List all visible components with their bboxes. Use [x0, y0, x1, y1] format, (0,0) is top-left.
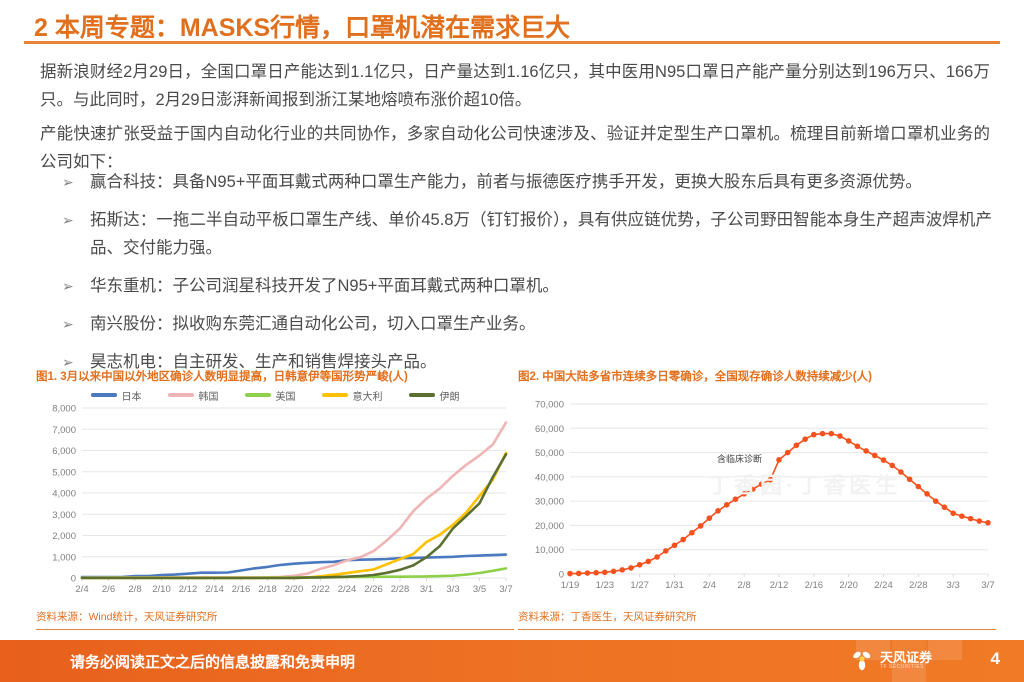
svg-text:8,000: 8,000	[52, 404, 76, 415]
chart-right-watermark: 丁香园·丁香医生	[708, 468, 901, 500]
svg-text:6,000: 6,000	[52, 446, 76, 457]
list-item: ➢ 华东重机：子公司润星科技开发了N95+平面耳戴式两种口罩机。	[62, 272, 992, 300]
svg-text:2/14: 2/14	[205, 584, 224, 595]
svg-text:1/27: 1/27	[630, 580, 649, 591]
svg-text:2/6: 2/6	[102, 584, 115, 595]
chart-panel-left: 图1. 3月以来中国以外地区确诊人数明显提高，日韩意伊等国形势严峻(人) 日本韩…	[36, 368, 514, 636]
bullet-text: 南兴股份：拟收购东莞汇通自动化公司，切入口罩生产业务。	[90, 310, 992, 338]
svg-text:2/8: 2/8	[128, 584, 141, 595]
legend-swatch-icon	[168, 393, 194, 397]
svg-text:3/1: 3/1	[420, 584, 433, 595]
svg-text:2/26: 2/26	[364, 584, 383, 595]
legend-label: 日本	[122, 388, 142, 403]
line-chart-left: 01,0002,0003,0004,0005,0006,0007,0008,00…	[36, 404, 514, 600]
svg-text:2/18: 2/18	[258, 584, 277, 595]
legend-label: 美国	[276, 388, 296, 403]
svg-text:70,000: 70,000	[535, 400, 564, 411]
legend-swatch-icon	[409, 393, 435, 397]
svg-text:5,000: 5,000	[52, 467, 76, 478]
svg-text:2/8: 2/8	[738, 580, 751, 591]
chart-right-caption: 图2. 中国大陆多省市连续多日零确诊，全国现存确诊人数持续减少(人)	[518, 368, 996, 384]
svg-text:2,000: 2,000	[52, 531, 76, 542]
legend-label: 韩国	[199, 388, 219, 403]
svg-text:0: 0	[71, 574, 76, 585]
svg-text:2/16: 2/16	[232, 584, 251, 595]
svg-text:1/31: 1/31	[665, 580, 684, 591]
svg-text:2/4: 2/4	[703, 580, 716, 591]
svg-text:7,000: 7,000	[52, 425, 76, 436]
list-item: ➢ 拓斯达：一拖二半自动平板口罩生产线、单价45.8万（钉钉报价），具有供应链优…	[62, 206, 992, 262]
bullet-arrow-icon: ➢	[62, 168, 90, 196]
chart-right-plot: 010,00020,00030,00040,00050,00060,00070,…	[518, 400, 996, 600]
bullet-arrow-icon: ➢	[62, 272, 90, 300]
body-paragraphs: 据新浪财经2月29日，全国口罩日产能达到1.1亿只，日产量达到1.16亿只，其中…	[40, 58, 990, 182]
slide-header: 2 本周专题：MASKS行情，口罩机潜在需求巨大	[0, 0, 1024, 46]
chart-left-plot: 01,0002,0003,0004,0005,0006,0007,0008,00…	[36, 404, 514, 604]
chart-right-annotation: 含临床诊断	[717, 452, 762, 465]
svg-text:40,000: 40,000	[535, 472, 564, 483]
chart-left-caption: 图1. 3月以来中国以外地区确诊人数明显提高，日韩意伊等国形势严峻(人)	[36, 368, 514, 384]
legend-item-3: 意大利	[322, 388, 383, 403]
legend-item-0: 日本	[91, 388, 142, 403]
chart-left-legend: 日本韩国美国意大利伊朗	[36, 388, 514, 402]
svg-text:30,000: 30,000	[535, 497, 564, 508]
list-item: ➢ 赢合科技：具备N95+平面耳戴式两种口罩生产能力，前者与振德医疗携手开发，更…	[62, 168, 992, 196]
chart-left-source: 资料来源：Wind统计，天风证券研究所	[36, 609, 217, 624]
bullet-arrow-icon: ➢	[62, 310, 90, 338]
slide-footer: 请务必阅读正文之后的信息披露和免责申明 天风证券 TF SECURITIES 4	[0, 640, 1024, 682]
legend-swatch-icon	[322, 393, 348, 397]
svg-text:2/20: 2/20	[839, 580, 858, 591]
chart-left-divider	[36, 629, 514, 631]
bullet-text: 赢合科技：具备N95+平面耳戴式两种口罩生产能力，前者与振德医疗携手开发，更换大…	[90, 168, 992, 196]
svg-text:2/4: 2/4	[75, 584, 88, 595]
legend-swatch-icon	[91, 393, 117, 397]
legend-label: 意大利	[353, 388, 383, 403]
svg-text:2/24: 2/24	[874, 580, 893, 591]
svg-text:3/7: 3/7	[981, 580, 994, 591]
legend-swatch-icon	[245, 393, 271, 397]
svg-text:3,000: 3,000	[52, 510, 76, 521]
bullet-list: ➢ 赢合科技：具备N95+平面耳戴式两种口罩生产能力，前者与振德医疗携手开发，更…	[62, 168, 992, 386]
bullet-arrow-icon: ➢	[62, 206, 90, 234]
svg-text:2/22: 2/22	[311, 584, 330, 595]
svg-text:2/20: 2/20	[285, 584, 304, 595]
chart-right-source: 资料来源：丁香医生，天风证券研究所	[518, 609, 697, 624]
svg-text:1,000: 1,000	[52, 552, 76, 563]
svg-text:3/3: 3/3	[947, 580, 960, 591]
svg-text:3/5: 3/5	[473, 584, 486, 595]
svg-text:10,000: 10,000	[535, 545, 564, 556]
page-title: 2 本周专题：MASKS行情，口罩机潜在需求巨大	[34, 8, 570, 44]
bullet-text: 拓斯达：一拖二半自动平板口罩生产线、单价45.8万（钉钉报价），具有供应链优势，…	[90, 206, 992, 262]
legend-item-4: 伊朗	[409, 388, 460, 403]
chart-right-divider	[518, 629, 996, 631]
svg-text:3/7: 3/7	[499, 584, 512, 595]
legend-item-2: 美国	[245, 388, 296, 403]
chart-panel-right: 图2. 中国大陆多省市连续多日零确诊，全国现存确诊人数持续减少(人) 010,0…	[518, 368, 996, 636]
tianfeng-logo-icon	[849, 648, 875, 674]
svg-text:1/19: 1/19	[561, 580, 580, 591]
svg-text:2/10: 2/10	[152, 584, 171, 595]
svg-text:2/24: 2/24	[338, 584, 357, 595]
svg-text:50,000: 50,000	[535, 448, 564, 459]
svg-text:0: 0	[559, 570, 564, 581]
paragraph-1: 据新浪财经2月29日，全国口罩日产能达到1.1亿只，日产量达到1.16亿只，其中…	[40, 58, 990, 114]
svg-text:2/12: 2/12	[179, 584, 198, 595]
bullet-text: 华东重机：子公司润星科技开发了N95+平面耳戴式两种口罩机。	[90, 272, 992, 300]
svg-text:2/28: 2/28	[391, 584, 410, 595]
brand-name: 天风证券	[880, 651, 932, 664]
svg-text:4,000: 4,000	[52, 489, 76, 500]
legend-label: 伊朗	[440, 388, 460, 403]
svg-text:2/12: 2/12	[770, 580, 789, 591]
brand-logo: 天风证券 TF SECURITIES	[849, 648, 932, 674]
svg-text:3/3: 3/3	[446, 584, 459, 595]
svg-text:2/16: 2/16	[805, 580, 824, 591]
svg-text:1/23: 1/23	[596, 580, 615, 591]
svg-text:60,000: 60,000	[535, 424, 564, 435]
svg-text:2/28: 2/28	[909, 580, 928, 591]
brand-subtitle: TF SECURITIES	[880, 664, 932, 671]
list-item: ➢ 南兴股份：拟收购东莞汇通自动化公司，切入口罩生产业务。	[62, 310, 992, 338]
legend-item-1: 韩国	[168, 388, 219, 403]
page-number: 4	[991, 649, 1000, 669]
header-divider	[24, 41, 1000, 44]
footer-disclaimer: 请务必阅读正文之后的信息披露和免责申明	[70, 651, 355, 672]
svg-text:20,000: 20,000	[535, 521, 564, 532]
